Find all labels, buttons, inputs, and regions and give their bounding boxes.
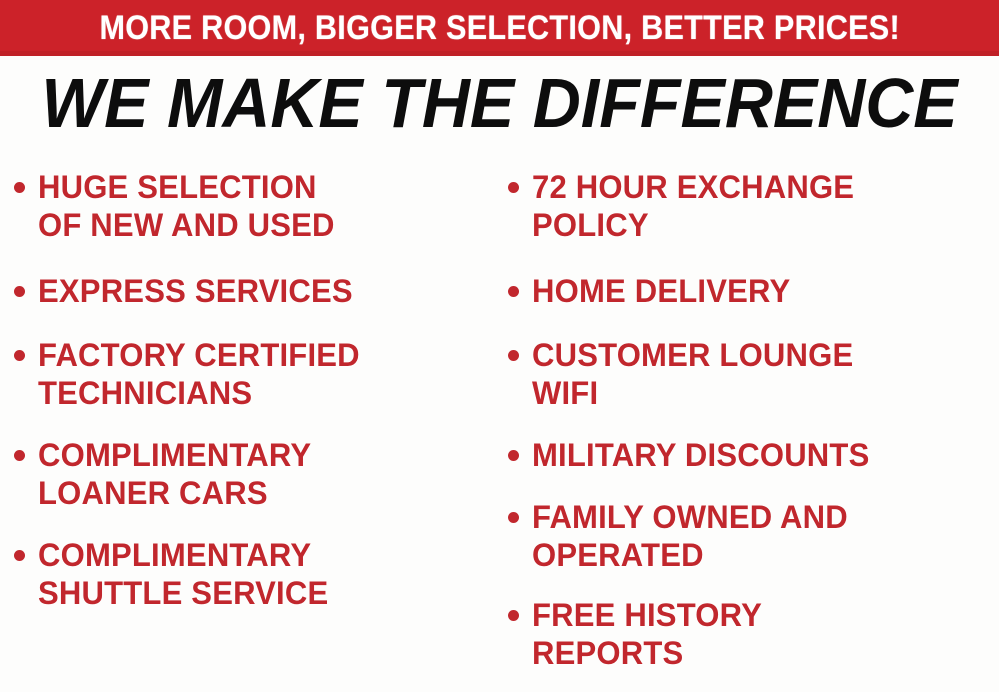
list-item-label: HUGE SELECTION OF NEW AND USED: [38, 168, 490, 244]
bullet-dot-icon: [14, 350, 25, 361]
list-item: FACTORY CERTIFIED TECHNICIANS: [14, 336, 504, 412]
bullet-dot-icon: [508, 450, 519, 461]
features-column-right: 72 HOUR EXCHANGE POLICY HOME DELIVERY CU…: [508, 158, 998, 692]
list-item-label: FREE HISTORY REPORTS: [532, 596, 984, 672]
banner-headline-text: MORE ROOM, BIGGER SELECTION, BETTER PRIC…: [99, 10, 899, 46]
list-item: COMPLIMENTARY SHUTTLE SERVICE: [14, 536, 504, 612]
bullet-dot-icon: [508, 512, 519, 523]
list-item: CUSTOMER LOUNGE WIFI: [508, 336, 998, 412]
bullet-dot-icon: [508, 286, 519, 297]
list-item-label: EXPRESS SERVICES: [38, 272, 490, 310]
features-columns: HUGE SELECTION OF NEW AND USED EXPRESS S…: [0, 158, 999, 692]
list-item: 72 HOUR EXCHANGE POLICY: [508, 168, 998, 244]
top-banner: MORE ROOM, BIGGER SELECTION, BETTER PRIC…: [0, 0, 999, 56]
bullet-dot-icon: [14, 550, 25, 561]
list-item-label: COMPLIMENTARY LOANER CARS: [38, 436, 490, 512]
list-item: HUGE SELECTION OF NEW AND USED: [14, 168, 504, 244]
list-item: FAMILY OWNED AND OPERATED: [508, 498, 998, 574]
features-column-left: HUGE SELECTION OF NEW AND USED EXPRESS S…: [14, 158, 504, 692]
bullet-dot-icon: [508, 182, 519, 193]
list-item-label: FAMILY OWNED AND OPERATED: [532, 498, 984, 574]
list-item: EXPRESS SERVICES: [14, 272, 504, 310]
page-title: WE MAKE THE DIFFERENCE: [25, 66, 974, 140]
bullet-dot-icon: [14, 450, 25, 461]
list-item: HOME DELIVERY: [508, 272, 998, 310]
list-item-label: FACTORY CERTIFIED TECHNICIANS: [38, 336, 490, 412]
bullet-dot-icon: [14, 182, 25, 193]
bullet-dot-icon: [508, 350, 519, 361]
promotional-poster: MORE ROOM, BIGGER SELECTION, BETTER PRIC…: [0, 0, 999, 692]
list-item: FREE HISTORY REPORTS: [508, 596, 998, 672]
list-item-label: MILITARY DISCOUNTS: [532, 436, 984, 474]
list-item-label: CUSTOMER LOUNGE WIFI: [532, 336, 984, 412]
list-item: MILITARY DISCOUNTS: [508, 436, 998, 474]
list-item: COMPLIMENTARY LOANER CARS: [14, 436, 504, 512]
banner-bottom-shade: [0, 51, 999, 56]
list-item-label: COMPLIMENTARY SHUTTLE SERVICE: [38, 536, 490, 612]
bullet-dot-icon: [508, 610, 519, 621]
list-item-label: 72 HOUR EXCHANGE POLICY: [532, 168, 984, 244]
bullet-dot-icon: [14, 286, 25, 297]
list-item-label: HOME DELIVERY: [532, 272, 984, 310]
